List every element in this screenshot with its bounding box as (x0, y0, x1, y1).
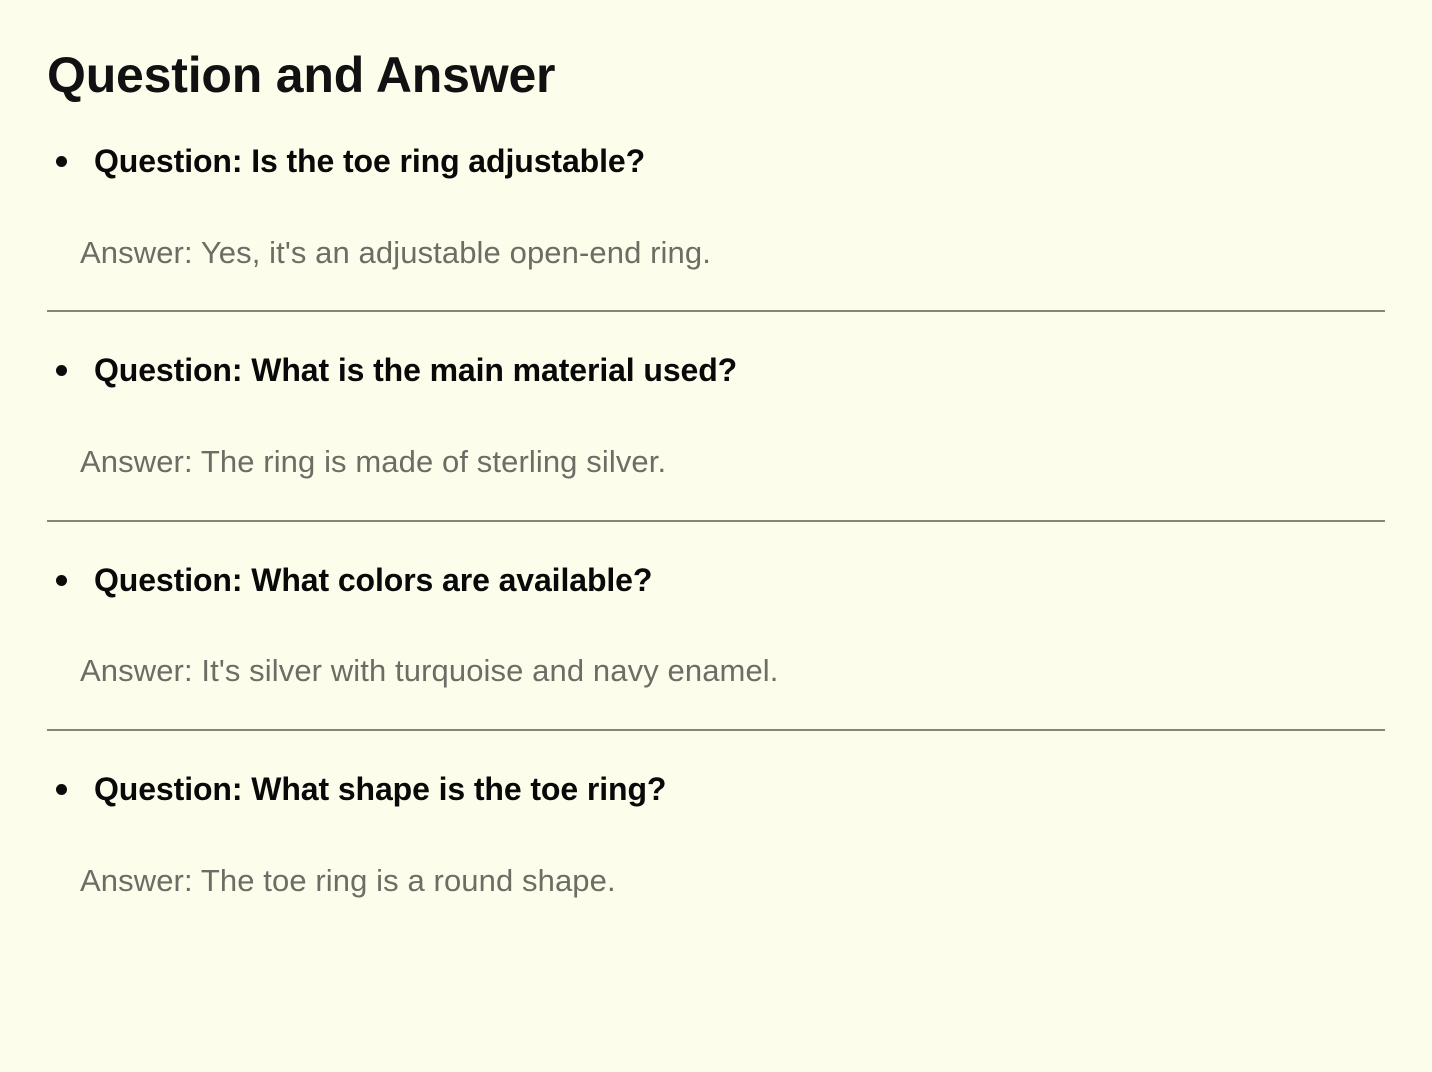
bullet-dot-icon (56, 784, 67, 795)
qa-item: Question: What is the main material used… (47, 310, 1385, 519)
question-row: Question: Is the toe ring adjustable? (47, 141, 1385, 182)
answer-text: Answer: Yes, it's an adjustable open-end… (47, 182, 1385, 273)
question-text: Question: What colors are available? (94, 560, 652, 601)
question-text: Question: What shape is the toe ring? (94, 769, 666, 810)
qa-block: Question: What colors are available? Ans… (47, 522, 1385, 729)
page-title: Question and Answer (47, 0, 1385, 103)
question-row: Question: What colors are available? (47, 560, 1385, 601)
qa-item: Question: What colors are available? Ans… (47, 520, 1385, 729)
answer-text: Answer: The toe ring is a round shape. (47, 810, 1385, 901)
answer-text: Answer: The ring is made of sterling sil… (47, 391, 1385, 482)
qa-page: Question and Answer Question: Is the toe… (0, 0, 1432, 1072)
question-text: Question: Is the toe ring adjustable? (94, 141, 645, 182)
qa-block: Question: What is the main material used… (47, 312, 1385, 519)
bullet-dot-icon (56, 365, 67, 376)
answer-text: Answer: It's silver with turquoise and n… (47, 600, 1385, 691)
qa-item: Question: What shape is the toe ring? An… (47, 729, 1385, 938)
qa-block: Question: What shape is the toe ring? An… (47, 731, 1385, 938)
qa-block: Question: Is the toe ring adjustable? An… (47, 103, 1385, 310)
question-text: Question: What is the main material used… (94, 350, 737, 391)
bullet-dot-icon (56, 575, 67, 586)
bullet-dot-icon (56, 156, 67, 167)
question-row: Question: What is the main material used… (47, 350, 1385, 391)
qa-item: Question: Is the toe ring adjustable? An… (47, 103, 1385, 310)
qa-list: Question: Is the toe ring adjustable? An… (47, 103, 1385, 938)
question-row: Question: What shape is the toe ring? (47, 769, 1385, 810)
